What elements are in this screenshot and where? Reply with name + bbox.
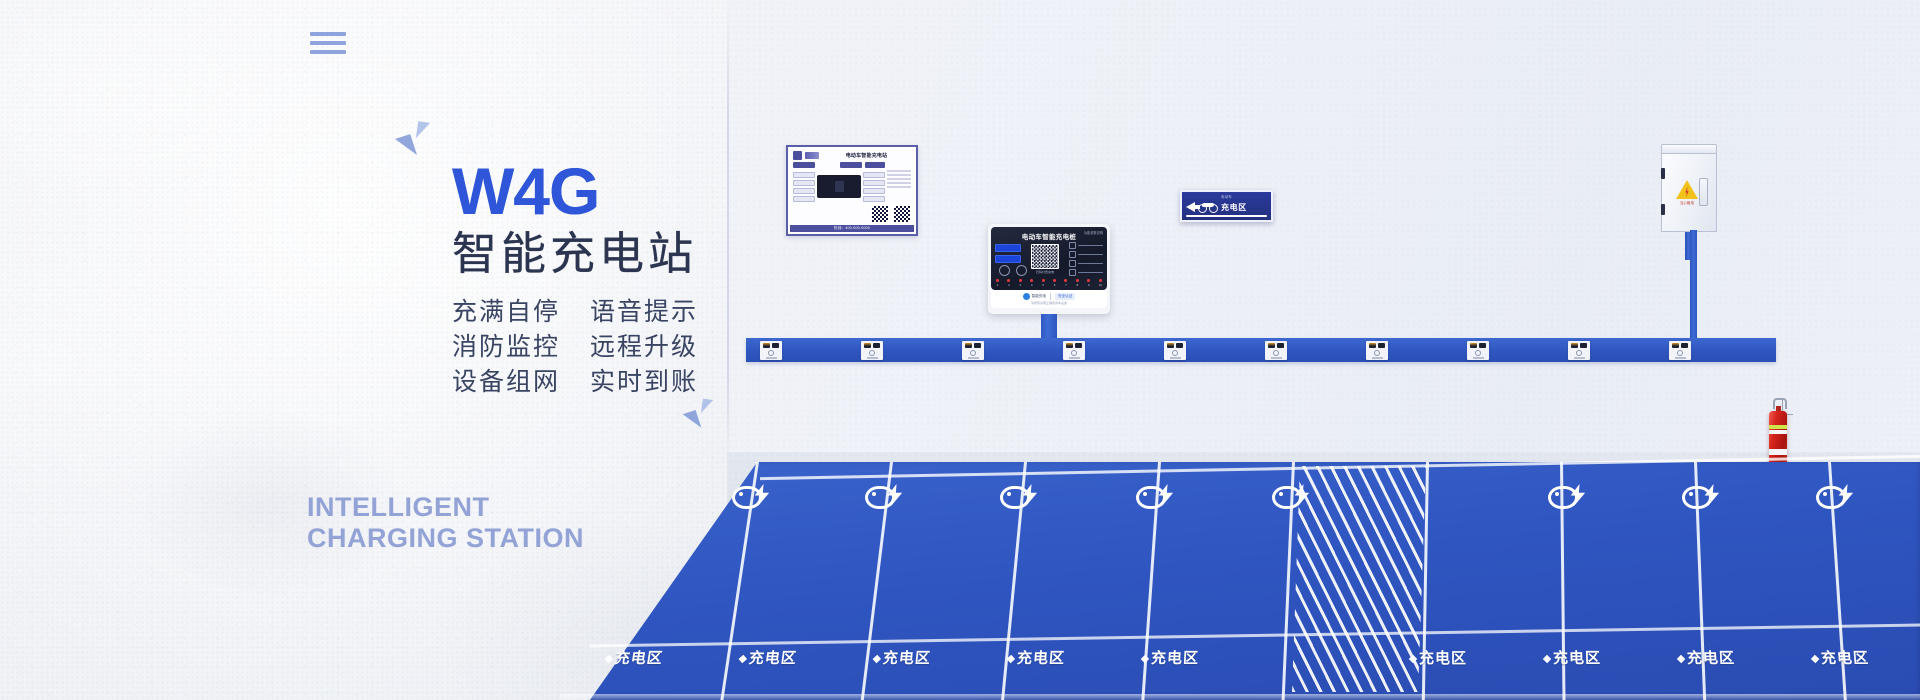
warning-triangle <box>1676 180 1698 199</box>
port-indicator[interactable]: 3 <box>1019 279 1022 287</box>
wall-outlet-strip <box>746 338 1776 362</box>
cabinet-body: 当心触电 <box>1661 154 1717 232</box>
feature-label: 语音提示 <box>590 296 698 329</box>
charging-area-sign: 电动车 充电区 <box>1180 190 1273 222</box>
certification-badge: 安全认证 <box>1055 293 1075 300</box>
bay-label: 充电区 <box>1811 647 1870 668</box>
poster-qr-code-wechat <box>893 205 911 223</box>
charging-plug-icon <box>732 484 770 506</box>
sign-label: 充电区 <box>1221 202 1247 213</box>
feature-row: 设备组网 实时到账 <box>452 366 752 399</box>
poster-note-line <box>887 186 911 188</box>
hamburger-bar-2 <box>310 41 346 45</box>
cabinet-hinge <box>1661 204 1665 215</box>
poster-note-line <box>887 178 911 180</box>
feature-label: 充满自停 <box>452 296 560 329</box>
led-display-2 <box>995 255 1021 263</box>
feature-row: 充满自停 语音提示 <box>452 296 752 329</box>
bay-label: 充电区 <box>1007 647 1066 668</box>
bay-label: 充电区 <box>604 647 664 668</box>
feature-label: 设备组网 <box>452 366 560 399</box>
wall-socket[interactable] <box>1467 341 1489 360</box>
page-title-en: W4G <box>452 158 599 224</box>
charging-plug-icon <box>1272 484 1310 506</box>
feature-label: 实时到账 <box>590 366 698 399</box>
port-indicator[interactable]: 4 <box>1030 279 1033 287</box>
warning-label: 当心触电 <box>1676 200 1698 205</box>
poster-device-diagram <box>817 170 861 203</box>
poster-note-line <box>887 170 911 172</box>
poster-step-box <box>793 172 815 178</box>
sign-underline <box>1186 215 1267 217</box>
wall-info-poster: 电动车智能充电站 <box>786 145 918 236</box>
charging-plug-icon <box>1548 484 1586 506</box>
charging-pile-brand-row: 智能充电 安全认证 <box>1023 293 1076 300</box>
poster-step-box <box>793 180 815 186</box>
wall-socket[interactable] <box>1063 341 1085 360</box>
spec-line <box>1069 251 1103 258</box>
poster-note-line <box>887 174 911 176</box>
feature-label: 消防监控 <box>452 331 560 364</box>
charging-plug-icon <box>865 484 903 506</box>
parking-floor: 充电区 充电区 充电区 充电区 充电区 充电区 充电区 充电区 充电区 充电区 <box>560 462 1920 700</box>
poster-qr-row <box>790 205 914 225</box>
poster-step-box <box>793 196 815 202</box>
bay-label: 充电区 <box>873 647 932 668</box>
bay-label: 充电区 <box>739 647 799 668</box>
sign-content-row: 充电区 <box>1186 199 1267 215</box>
poster-step-box <box>863 172 885 178</box>
poster-hotline: 热线：400-000-0000 <box>834 226 870 231</box>
wall-socket[interactable] <box>861 341 883 360</box>
wall-socket[interactable] <box>760 341 782 360</box>
hatched-no-parking-zone <box>1292 466 1426 692</box>
charging-pile-qr-code[interactable] <box>1031 244 1059 269</box>
charging-plug-icon <box>1000 484 1038 506</box>
charging-pile-housing: 电动车智能充电桩 功能参数说明 扫码付费充电 <box>988 224 1110 314</box>
charging-pile-panel: 电动车智能充电桩 功能参数说明 扫码付费充电 <box>991 227 1107 290</box>
poster-qr-code-pay <box>871 205 889 223</box>
port-indicator[interactable]: 10 <box>1099 279 1102 287</box>
brand-name: 智能充电 <box>1032 294 1046 299</box>
scooter-icon <box>1198 202 1218 213</box>
electrical-cabinet: 当心触电 <box>1661 144 1717 232</box>
poster-footer: 热线：400-000-0000 <box>790 225 914 232</box>
poster-step-box <box>793 188 815 194</box>
left-arrow-icon <box>1186 202 1195 212</box>
port-indicator[interactable]: 9 <box>1087 279 1090 287</box>
poster-header: 电动车智能充电站 <box>790 149 914 162</box>
poster-brand-icon <box>805 152 819 159</box>
poster-logo-icon <box>793 151 802 160</box>
power-conduit-riser <box>1690 230 1697 342</box>
wall-socket[interactable] <box>1265 341 1287 360</box>
card-reader-icon <box>1016 265 1027 276</box>
divider <box>1050 293 1051 300</box>
poster-note-line <box>887 182 911 184</box>
poster-notes <box>887 170 911 203</box>
poster-pile-illustration <box>817 175 861 198</box>
brand-mark-icon <box>1023 293 1030 300</box>
wall-socket[interactable] <box>1669 341 1691 360</box>
charging-plug-icon <box>1682 484 1720 506</box>
poster-step-box <box>863 188 885 194</box>
bay-label: 充电区 <box>1677 647 1735 668</box>
speaker-icon <box>999 265 1010 276</box>
port-indicator[interactable]: 1 <box>996 279 999 287</box>
brand-logo: 智能充电 <box>1023 293 1046 300</box>
hamburger-menu-icon[interactable] <box>310 32 346 54</box>
port-indicator[interactable]: 5 <box>1042 279 1045 287</box>
port-indicator[interactable]: 6 <box>1053 279 1056 287</box>
high-voltage-warning-icon: 当心触电 <box>1676 180 1698 205</box>
led-display-1 <box>995 244 1021 252</box>
charging-pile-qr-area[interactable]: 扫码付费充电 <box>1024 244 1066 274</box>
charging-pile-note: 请按照说明正确使用本设备 <box>1031 301 1067 305</box>
feature-label: 远程升级 <box>590 331 698 364</box>
poster-steps-left <box>793 170 815 203</box>
wall-socket[interactable] <box>1164 341 1186 360</box>
floor-front-edge <box>560 694 1920 700</box>
poster-body <box>790 168 914 205</box>
poster-steps-right <box>863 170 885 203</box>
bay-label: 充电区 <box>1410 647 1467 668</box>
charging-pile-feature-icons <box>999 265 1027 276</box>
page-title-cn: 智能充电站 <box>452 230 872 277</box>
poster-step-box <box>863 196 885 202</box>
poster-pile-screen <box>835 181 844 192</box>
charging-pile[interactable]: 电动车智能充电桩 功能参数说明 扫码付费充电 <box>988 224 1110 314</box>
port-indicator[interactable]: 2 <box>1007 279 1010 287</box>
spec-line <box>1069 260 1103 267</box>
poster-step-box <box>863 180 885 186</box>
spec-line <box>1069 242 1103 249</box>
hamburger-bar-1 <box>310 32 346 36</box>
charging-pile-footer: 智能充电 安全认证 请按照说明正确使用本设备 <box>991 290 1107 308</box>
bay-label: 充电区 <box>1141 647 1199 668</box>
poster-title: 电动车智能充电站 <box>822 152 911 159</box>
cabinet-top <box>1661 144 1717 154</box>
charging-pile-spec-caption: 功能参数说明 <box>1084 230 1103 235</box>
charging-pile-port-row[interactable]: 1 2 3 4 5 6 7 8 9 10 <box>996 279 1102 287</box>
cabinet-handle[interactable] <box>1699 178 1708 206</box>
charging-pile-spec-lines <box>1069 244 1103 274</box>
wall-socket[interactable] <box>1568 341 1590 360</box>
poster-inner: 电动车智能充电站 <box>790 149 914 232</box>
charging-pile-qr-caption: 扫码付费充电 <box>1036 270 1054 274</box>
feature-list: 充满自停 语音提示 消防监控 远程升级 设备组网 实时到账 <box>452 296 752 401</box>
port-indicator[interactable]: 8 <box>1076 279 1079 287</box>
bay-label: 充电区 <box>1544 647 1602 668</box>
charging-plug-icon <box>1136 484 1174 506</box>
feature-row: 消防监控 远程升级 <box>452 331 752 364</box>
wall-socket[interactable] <box>962 341 984 360</box>
banner-stage: W4G 智能充电站 充满自停 语音提示 消防监控 远程升级 设备组网 实时到账 … <box>0 0 1920 700</box>
cabinet-hinge <box>1661 168 1665 179</box>
charging-plug-icon <box>1816 484 1854 506</box>
port-indicator[interactable]: 7 <box>1064 279 1067 287</box>
hamburger-bar-3 <box>310 50 346 54</box>
wall-socket[interactable] <box>1366 341 1388 360</box>
spec-line <box>1069 269 1103 276</box>
